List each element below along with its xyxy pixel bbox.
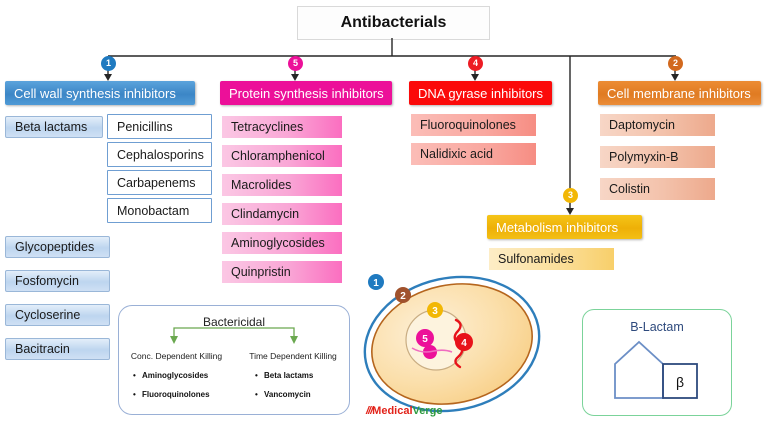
bactericidal-left-heading: Conc. Dependent Killing [119, 351, 234, 361]
item-macrolides[interactable]: Macrolides [222, 174, 342, 196]
category-header-protein-synthesis[interactable]: Protein synthesis inhibitors [220, 81, 392, 105]
item-chloramphenicol-label: Chloramphenicol [231, 149, 325, 163]
item-chloramphenicol[interactable]: Chloramphenicol [222, 145, 342, 167]
category-header-metabolism-label: Metabolism inhibitors [496, 220, 618, 235]
item-polymyxin-b[interactable]: Polymyxin-B [600, 146, 715, 168]
item-aminoglycosides[interactable]: Aminoglycosides [222, 232, 342, 254]
item-quinpristin[interactable]: Quinpristin [222, 261, 342, 283]
item-colistin[interactable]: Colistin [600, 178, 715, 200]
category-header-dna-gyrase[interactable]: DNA gyrase inhibitors [409, 81, 552, 105]
item-daptomycin[interactable]: Daptomycin [600, 114, 715, 136]
badge-1: 1 [101, 56, 116, 71]
badge-1-label: 1 [106, 59, 111, 68]
category-header-dna-gyrase-label: DNA gyrase inhibitors [418, 86, 543, 101]
blactam-structure: β [583, 310, 731, 415]
item-fosfomycin-label: Fosfomycin [15, 274, 79, 288]
bactericidal-right-item-2: •Vancomycin [255, 390, 311, 399]
item-cephalosporins[interactable]: Cephalosporins [107, 142, 212, 167]
badge-5-label: 5 [293, 59, 298, 68]
item-nalidixic-acid[interactable]: Nalidixic acid [411, 143, 536, 165]
category-header-cell-wall[interactable]: Cell wall synthesis inhibitors [5, 81, 195, 105]
item-clindamycin[interactable]: Clindamycin [222, 203, 342, 225]
item-bacitracin-label: Bacitracin [15, 342, 70, 356]
badge-2-label: 2 [673, 59, 678, 68]
bactericidal-right-heading: Time Dependent Killing [237, 351, 349, 361]
item-colistin-label: Colistin [609, 182, 650, 196]
item-polymyxin-b-label: Polymyxin-B [609, 150, 678, 164]
badge-3: 3 [563, 188, 578, 203]
badge-4-label: 4 [473, 59, 478, 68]
svg-text:4: 4 [461, 338, 467, 349]
item-fluoroquinolones-label: Fluoroquinolones [420, 118, 516, 132]
medicalverge-logo: ///MedicalVerge [366, 405, 443, 417]
logo-part2: Verge [413, 405, 443, 417]
item-clindamycin-label: Clindamycin [231, 207, 299, 221]
item-daptomycin-label: Daptomycin [609, 118, 675, 132]
bactericidal-panel: Bactericidal Conc. Dependent Killing Tim… [118, 305, 350, 415]
item-cycloserine-label: Cycloserine [15, 308, 80, 322]
bactericidal-left-item-2: •Fluoroquinolones [133, 390, 210, 399]
category-header-cell-wall-label: Cell wall synthesis inhibitors [14, 86, 176, 101]
item-nalidixic-acid-label: Nalidixic acid [420, 147, 493, 161]
badge-5: 5 [288, 56, 303, 71]
item-fluoroquinolones[interactable]: Fluoroquinolones [411, 114, 536, 136]
svg-text:5: 5 [422, 334, 428, 345]
item-penicillins-label: Penicillins [117, 120, 173, 134]
item-tetracyclines-label: Tetracyclines [231, 120, 303, 134]
bactericidal-left-item-1: •Aminoglycosides [133, 371, 208, 380]
blactam-panel: B-Lactam β [582, 309, 732, 416]
item-carbapenems[interactable]: Carbapenems [107, 170, 212, 195]
blactam-ring-label: β [676, 374, 684, 390]
item-fosfomycin[interactable]: Fosfomycin [5, 270, 110, 292]
item-macrolides-label: Macrolides [231, 178, 291, 192]
category-header-cell-membrane-label: Cell membrane inhibitors [607, 86, 751, 101]
page-title: Antibacterials [297, 6, 490, 40]
item-monobactam[interactable]: Monobactam [107, 198, 212, 223]
item-penicillins[interactable]: Penicillins [107, 114, 212, 139]
badge-2: 2 [668, 56, 683, 71]
category-header-cell-membrane[interactable]: Cell membrane inhibitors [598, 81, 761, 105]
bacterial-cell-illustration: 1 2 3 4 5 [360, 262, 550, 422]
category-header-protein-synthesis-label: Protein synthesis inhibitors [229, 86, 384, 101]
svg-text:3: 3 [432, 306, 438, 317]
svg-text:2: 2 [400, 291, 406, 302]
item-beta-lactams[interactable]: Beta lactams [5, 116, 103, 138]
item-carbapenems-label: Carbapenems [117, 176, 196, 190]
svg-text:1: 1 [373, 278, 379, 289]
item-glycopeptides-label: Glycopeptides [15, 240, 94, 254]
item-quinpristin-label: Quinpristin [231, 265, 291, 279]
item-glycopeptides[interactable]: Glycopeptides [5, 236, 110, 258]
badge-3-label: 3 [568, 191, 573, 200]
badge-4: 4 [468, 56, 483, 71]
item-monobactam-label: Monobactam [117, 204, 189, 218]
diagram-canvas: Antibacterials 1 5 4 2 3 Cell wall synth… [0, 0, 768, 432]
item-bacitracin[interactable]: Bacitracin [5, 338, 110, 360]
logo-part1: Medical [372, 405, 412, 417]
item-cycloserine[interactable]: Cycloserine [5, 304, 110, 326]
item-cephalosporins-label: Cephalosporins [117, 148, 204, 162]
item-aminoglycosides-label: Aminoglycosides [231, 236, 325, 250]
bactericidal-right-item-1: •Beta lactams [255, 371, 313, 380]
item-tetracyclines[interactable]: Tetracyclines [222, 116, 342, 138]
item-beta-lactams-label: Beta lactams [15, 120, 87, 134]
category-header-metabolism[interactable]: Metabolism inhibitors [487, 215, 642, 239]
page-title-text: Antibacterials [341, 14, 447, 32]
